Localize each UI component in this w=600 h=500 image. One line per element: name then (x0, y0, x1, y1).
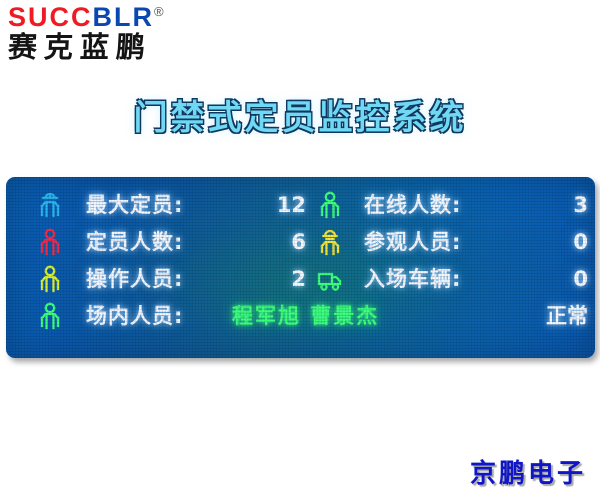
led-row-onsite-personnel: 场内人员: 程军旭 曹景杰 正常 (20, 298, 585, 335)
led-status-badge: 正常 (506, 298, 588, 335)
led-value-max-capacity: 12 (240, 187, 306, 224)
led-label-operator-count: 操作人员: (86, 261, 183, 298)
brand-latin-succ: SUCC (8, 2, 93, 32)
led-value-assigned-count: 6 (240, 224, 306, 261)
brand-latin-blr: BLR (93, 2, 155, 32)
person-icon (36, 301, 64, 331)
page-title: 门禁式定员监控系统 (0, 90, 600, 139)
led-row: 定员人数: 6 参观人员: (20, 224, 585, 261)
person-icon (36, 227, 64, 257)
led-label-visitor-count: 参观人员: (364, 224, 461, 261)
brand-latin-wordmark: SUCCBLR® (8, 4, 164, 31)
app-root: SUCCBLR® 赛克蓝鹏 门禁式定员监控系统 (0, 0, 600, 500)
brand-chinese-name: 赛克蓝鹏 (7, 32, 164, 62)
led-row: 操作人员: 2 入场车辆: 0 (20, 261, 585, 298)
footer-company-logo: 京鹏电子 (470, 453, 586, 490)
person-helmet-icon (316, 227, 344, 257)
led-label-vehicle-count: 入场车辆: (364, 261, 461, 298)
brand-logo: SUCCBLR® 赛克蓝鹏 (8, 4, 164, 62)
led-display-panel: 最大定员: 12 在线人数: 3 (6, 177, 595, 358)
led-value-visitor-count: 0 (510, 224, 588, 261)
person-icon (36, 264, 64, 294)
led-display-content: 最大定员: 12 在线人数: 3 (20, 187, 585, 348)
led-value-vehicle-count: 0 (510, 261, 588, 298)
led-label-onsite-personnel: 场内人员: (86, 298, 183, 335)
led-value-onsite-names: 程军旭 曹景杰 (232, 298, 379, 335)
led-label-max-capacity: 最大定员: (86, 187, 183, 224)
person-cap-icon (36, 190, 64, 220)
led-value-online-count: 3 (510, 187, 588, 224)
led-label-online-count: 在线人数: (364, 187, 461, 224)
led-label-assigned-count: 定员人数: (86, 224, 183, 261)
led-value-operator-count: 2 (240, 261, 306, 298)
person-icon (316, 190, 344, 220)
registered-trademark-icon: ® (154, 4, 164, 19)
led-row: 最大定员: 12 在线人数: 3 (20, 187, 585, 224)
truck-icon (316, 264, 344, 294)
